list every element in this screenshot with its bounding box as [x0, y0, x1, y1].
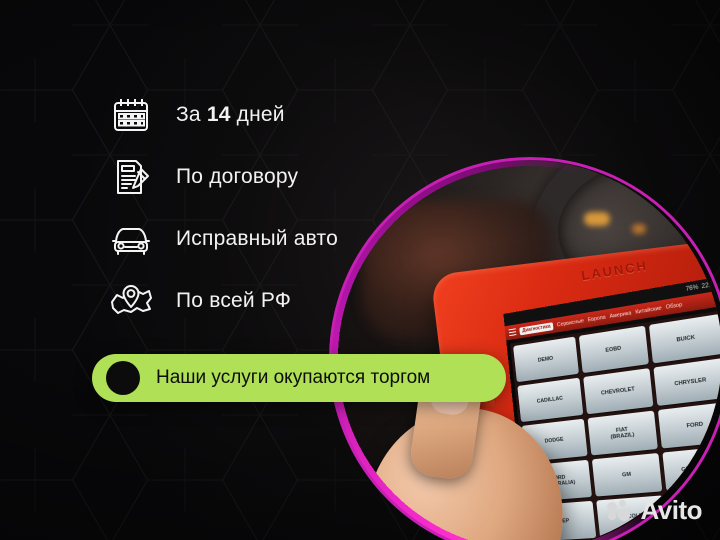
feature-item-contract: По договору — [108, 150, 408, 204]
avito-watermark: Avito — [607, 495, 702, 526]
feature-label-term: За 14 дней — [176, 103, 285, 127]
banner-bullet-dot — [106, 361, 140, 395]
feature-item-coverage: По всей РФ — [108, 274, 408, 328]
term-prefix: За — [176, 103, 207, 126]
term-suffix: дней — [231, 103, 285, 126]
russia-map-pin-icon — [108, 278, 154, 324]
car-front-icon — [108, 216, 154, 262]
promo-banner: LAUNCH 76% 22:44 Диагностика Сервисные Е… — [0, 0, 720, 540]
calendar-icon — [108, 92, 154, 138]
feature-item-term: За 14 дней — [108, 88, 408, 142]
feature-item-car: Исправный авто — [108, 212, 408, 266]
banner-text: Наши услуги окупаются торгом — [156, 367, 430, 389]
avito-dots-icon — [607, 500, 633, 522]
avito-wordmark: Avito — [640, 495, 702, 526]
feature-label-car: Исправный авто — [176, 227, 338, 251]
feature-label-coverage: По всей РФ — [176, 289, 291, 313]
offer-banner[interactable]: Наши услуги окупаются торгом — [92, 354, 506, 402]
contract-pen-icon — [108, 154, 154, 200]
feature-label-contract: По договору — [176, 165, 298, 189]
feature-list: За 14 дней По договору — [108, 88, 408, 336]
term-days-value: 14 — [207, 103, 231, 126]
